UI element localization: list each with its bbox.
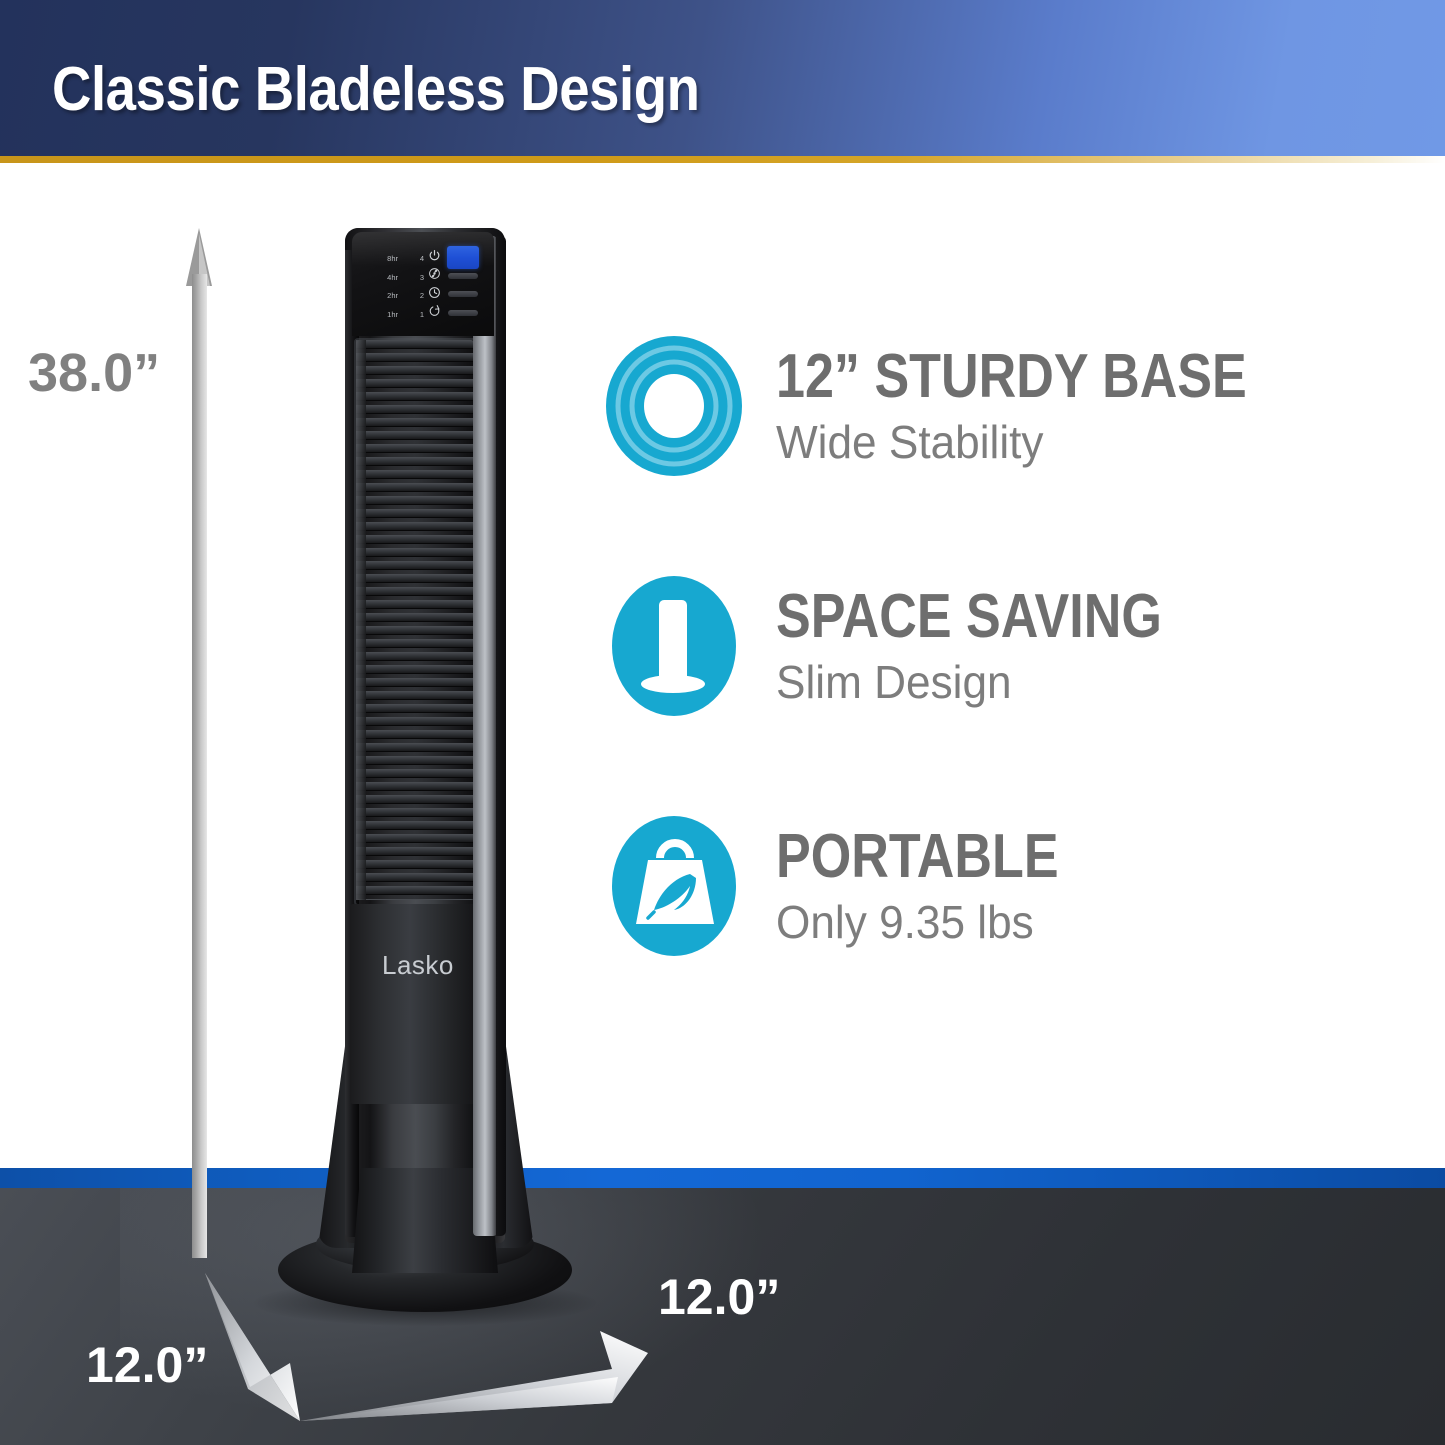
feature-item-portable: PORTABLE Only 9.35 lbs (604, 816, 1404, 956)
feature-subtitle: Slim Design (776, 657, 1217, 708)
page-title: Classic Bladeless Design (52, 54, 700, 125)
timer-label-column: 8hr 4hr 2hr 1hr (364, 250, 398, 324)
lower-body-panel (350, 904, 480, 1104)
feature-subtitle: Wide Stability (776, 417, 1314, 468)
feature-list: 12” STURDY BASE Wide Stability SPACE SAV… (604, 336, 1404, 1056)
speed-label-column: 4 3 2 1 (404, 250, 424, 324)
feature-text-block: PORTABLE Only 9.35 lbs (776, 816, 1112, 947)
height-label: 38.0” (28, 342, 160, 404)
gold-divider-rule (0, 156, 1445, 163)
concentric-rings-icon (604, 336, 744, 476)
feature-item-space-saving: SPACE SAVING Slim Design (604, 576, 1404, 716)
feature-text-block: SPACE SAVING Slim Design (776, 576, 1235, 707)
tower-fan-icon (604, 576, 744, 716)
feature-title: 12” STURDY BASE (776, 348, 1247, 407)
feature-item-sturdy-base: 12” STURDY BASE Wide Stability (604, 336, 1404, 476)
height-dimension-arrow (186, 228, 212, 1258)
led-indicator-column (448, 248, 488, 322)
speed-label: 3 (404, 269, 424, 288)
product-infographic: Classic Bladeless Design 38.0” (0, 0, 1445, 1445)
speed-label: 1 (404, 306, 424, 325)
speed-label: 2 (404, 287, 424, 306)
tower-right-edge (496, 236, 506, 1236)
led-indicator (448, 267, 488, 286)
timer-label: 8hr (364, 250, 398, 269)
feature-title: SPACE SAVING (776, 588, 1162, 647)
header-banner: Classic Bladeless Design (0, 0, 1445, 156)
led-spacer (448, 248, 488, 267)
led-indicator (448, 285, 488, 304)
tower-gloss-highlight (473, 236, 497, 1236)
led-indicator (448, 304, 488, 323)
grille-frame (354, 338, 480, 906)
depth-left-label: 12.0” (86, 1336, 208, 1394)
feature-title: PORTABLE (776, 828, 1059, 887)
feature-subtitle: Only 9.35 lbs (776, 897, 1099, 948)
timer-label: 2hr (364, 287, 398, 306)
arrow-shaft (192, 274, 207, 1258)
depth-right-label: 12.0” (658, 1268, 780, 1326)
feature-text-block: 12” STURDY BASE Wide Stability (776, 336, 1336, 467)
brand-logo: Lasko (382, 950, 454, 981)
timer-label: 4hr (364, 269, 398, 288)
tower-fan-product-image: Lasko 8hr 4hr 2hr 1hr 4 3 2 1 (300, 228, 550, 1313)
weight-feather-icon (604, 816, 744, 956)
timer-label: 1hr (364, 306, 398, 325)
speed-label: 4 (404, 250, 424, 269)
